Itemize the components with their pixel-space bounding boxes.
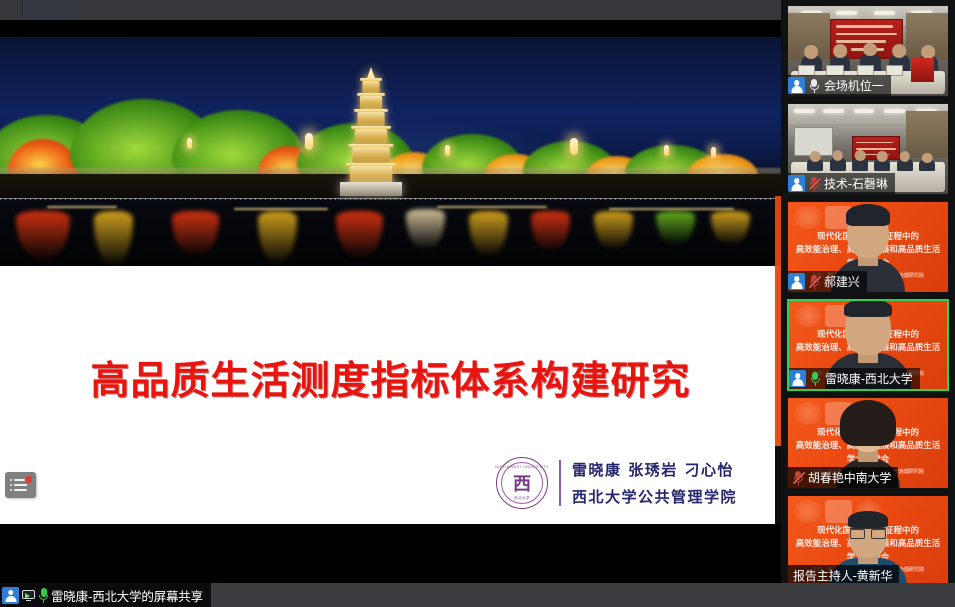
microphone-on-icon	[39, 588, 48, 603]
shared-app-chrome-strip	[0, 0, 781, 20]
microphone-muted-icon	[809, 177, 820, 191]
participant-label: 技术-石磬琳	[788, 173, 895, 194]
slide-letterbox-top	[0, 20, 781, 37]
author-text-group: 雷晓康 张琇岩 刁心怡 西北大学公共管理学院	[572, 459, 737, 507]
participant-label: 会场机位一	[788, 75, 891, 96]
participant-tile[interactable]: 现代化国家建设新征程中的 高效能治理、高质量发展和高品质生活 学术研讨会 主办：…	[787, 201, 949, 293]
screen-share-icon	[22, 589, 36, 601]
presentation-slide[interactable]: 高品质生活测度指标体系构建研究 NORTHWEST UNIVERSITY 西 西…	[0, 20, 781, 524]
participant-name: 郝建兴	[824, 273, 860, 290]
participant-label: 郝建兴	[788, 271, 867, 292]
participant-filmstrip[interactable]: 会场机位一	[781, 0, 955, 583]
participant-name: 报告主持人-黄新华	[793, 567, 892, 583]
participant-tile[interactable]: 技术-石磬琳	[787, 103, 949, 195]
slide-author-block: NORTHWEST UNIVERSITY 西 西北大学 雷晓康 张琇岩 刁心怡 …	[496, 457, 737, 509]
list-menu-icon[interactable]	[5, 472, 36, 498]
participant-label: 报告主持人-黄新华	[788, 565, 899, 583]
slide-title: 高品质生活测度指标体系构建研究	[0, 350, 781, 406]
participant-name: 技术-石磬琳	[824, 175, 888, 192]
microphone-on-icon	[810, 372, 821, 386]
microphone-muted-icon	[793, 471, 804, 485]
shared-screen-stage[interactable]: 高品质生活测度指标体系构建研究 NORTHWEST UNIVERSITY 西 西…	[0, 0, 781, 607]
status-bar: 雷晓康-西北大学的屏幕共享	[0, 583, 955, 607]
participant-tile-active-speaker[interactable]: 现代化国家建设新征程中的 高效能治理、高质量发展和高品质生活 学术研讨会 主办：…	[787, 299, 949, 391]
participant-label: 胡春艳中南大学	[788, 467, 898, 488]
screen-share-label: 雷晓康-西北大学的屏幕共享	[51, 586, 203, 605]
participant-avatar-icon	[789, 370, 806, 387]
microphone-idle-icon	[809, 79, 820, 93]
participant-name: 会场机位一	[824, 77, 884, 94]
participant-name: 雷晓康-西北大学	[825, 370, 913, 387]
conference-window: 高品质生活测度指标体系构建研究 NORTHWEST UNIVERSITY 西 西…	[0, 0, 955, 607]
participant-avatar-icon	[2, 587, 19, 604]
microphone-muted-icon	[809, 275, 820, 289]
slide-affiliation: 西北大学公共管理学院	[572, 486, 737, 507]
participant-avatar-icon	[788, 175, 805, 192]
screen-share-indicator[interactable]: 雷晓康-西北大学的屏幕共享	[0, 583, 211, 607]
university-seal-logo: NORTHWEST UNIVERSITY 西 西北大学	[496, 457, 548, 509]
seal-arc-bottom-text: 西北大学	[514, 496, 530, 501]
slide-photo-pagoda-night	[0, 37, 781, 266]
participant-tile[interactable]: 现代化国家建设新征程中的 高效能治理、高质量发展和高品质生活 学术研讨会 主办：…	[787, 495, 949, 583]
participant-label: 雷晓康-西北大学	[789, 368, 920, 389]
author-divider	[559, 460, 561, 506]
seal-glyph: 西	[513, 470, 531, 496]
participant-tile[interactable]: 会场机位一	[787, 5, 949, 97]
participant-name: 胡春艳中南大学	[808, 469, 891, 486]
stage-letterbox-bottom	[0, 524, 781, 583]
participant-avatar-icon	[788, 77, 805, 94]
big-wild-goose-pagoda	[343, 76, 399, 184]
slide-authors: 雷晓康 张琇岩 刁心怡	[572, 459, 737, 480]
chrome-tint	[23, 0, 75, 20]
participant-avatar-icon	[788, 273, 805, 290]
participant-tile[interactable]: 现代化国家建设新征程中的 高效能治理、高质量发展和高品质生活 学术研讨会 主办：…	[787, 397, 949, 489]
notification-badge-dot	[25, 476, 32, 483]
seal-arc-top-text: NORTHWEST UNIVERSITY	[495, 465, 549, 469]
